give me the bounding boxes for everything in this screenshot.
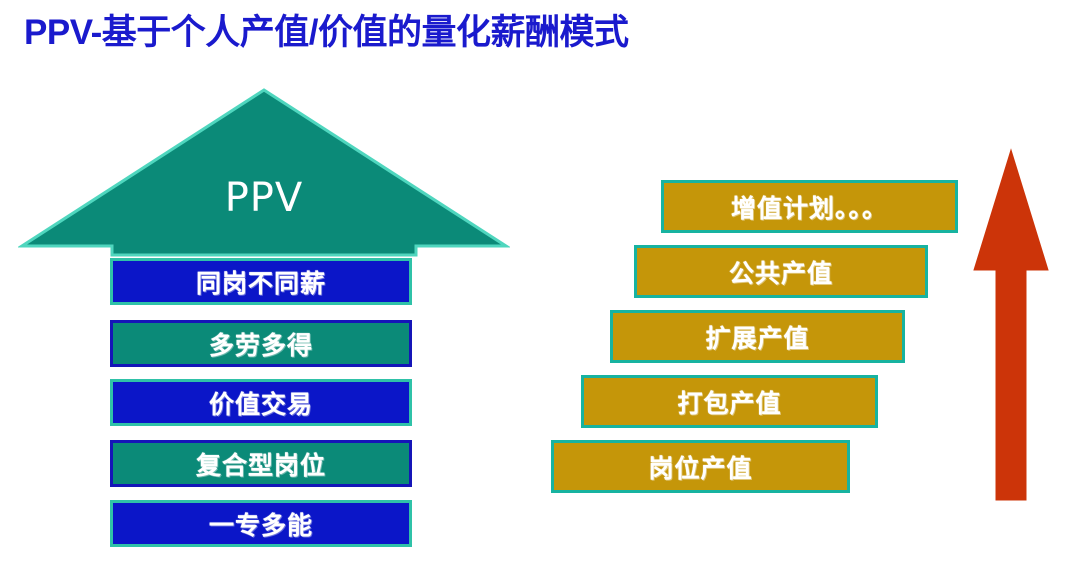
ppv-up-arrow: PPV (18, 86, 510, 258)
left-bar-label: 价值交易 (209, 385, 313, 421)
left-bar-label: 多劳多得 (209, 326, 313, 362)
left-bar-label: 一专多能 (209, 506, 313, 542)
left-bar-label: 同岗不同薪 (196, 264, 326, 300)
stair-bar-item[interactable]: 岗位产值 (551, 440, 850, 493)
growth-up-arrow-icon (972, 148, 1050, 502)
stair-bar-label: 扩展产值 (705, 319, 809, 355)
stair-bar-item[interactable]: 打包产值 (581, 375, 878, 428)
stair-bar-label: 打包产值 (677, 384, 781, 420)
growth-up-arrow (972, 148, 1050, 502)
left-bar-item[interactable]: 复合型岗位 (110, 440, 412, 487)
slide-canvas: PPV-基于个人产值/价值的量化薪酬模式 PPV 同岗不同薪 多劳多得 价值交易… (0, 0, 1080, 569)
left-bar-item[interactable]: 多劳多得 (110, 320, 412, 367)
stair-bar-label: 公共产值 (729, 254, 833, 290)
stair-bar-item[interactable]: 公共产值 (634, 245, 928, 298)
left-bar-item[interactable]: 同岗不同薪 (110, 258, 412, 305)
ppv-up-arrow-icon (18, 86, 510, 258)
stair-bar-item[interactable]: 扩展产值 (610, 310, 905, 363)
page-title: PPV-基于个人产值/价值的量化薪酬模式 (24, 11, 924, 55)
stair-bar-item[interactable]: 增值计划。。。 (661, 180, 958, 233)
stair-bar-label: 增值计划。。。 (731, 189, 888, 225)
left-bar-item[interactable]: 价值交易 (110, 379, 412, 426)
left-bar-item[interactable]: 一专多能 (110, 500, 412, 547)
left-bar-label: 复合型岗位 (196, 446, 326, 482)
stair-bar-label: 岗位产值 (648, 449, 752, 485)
